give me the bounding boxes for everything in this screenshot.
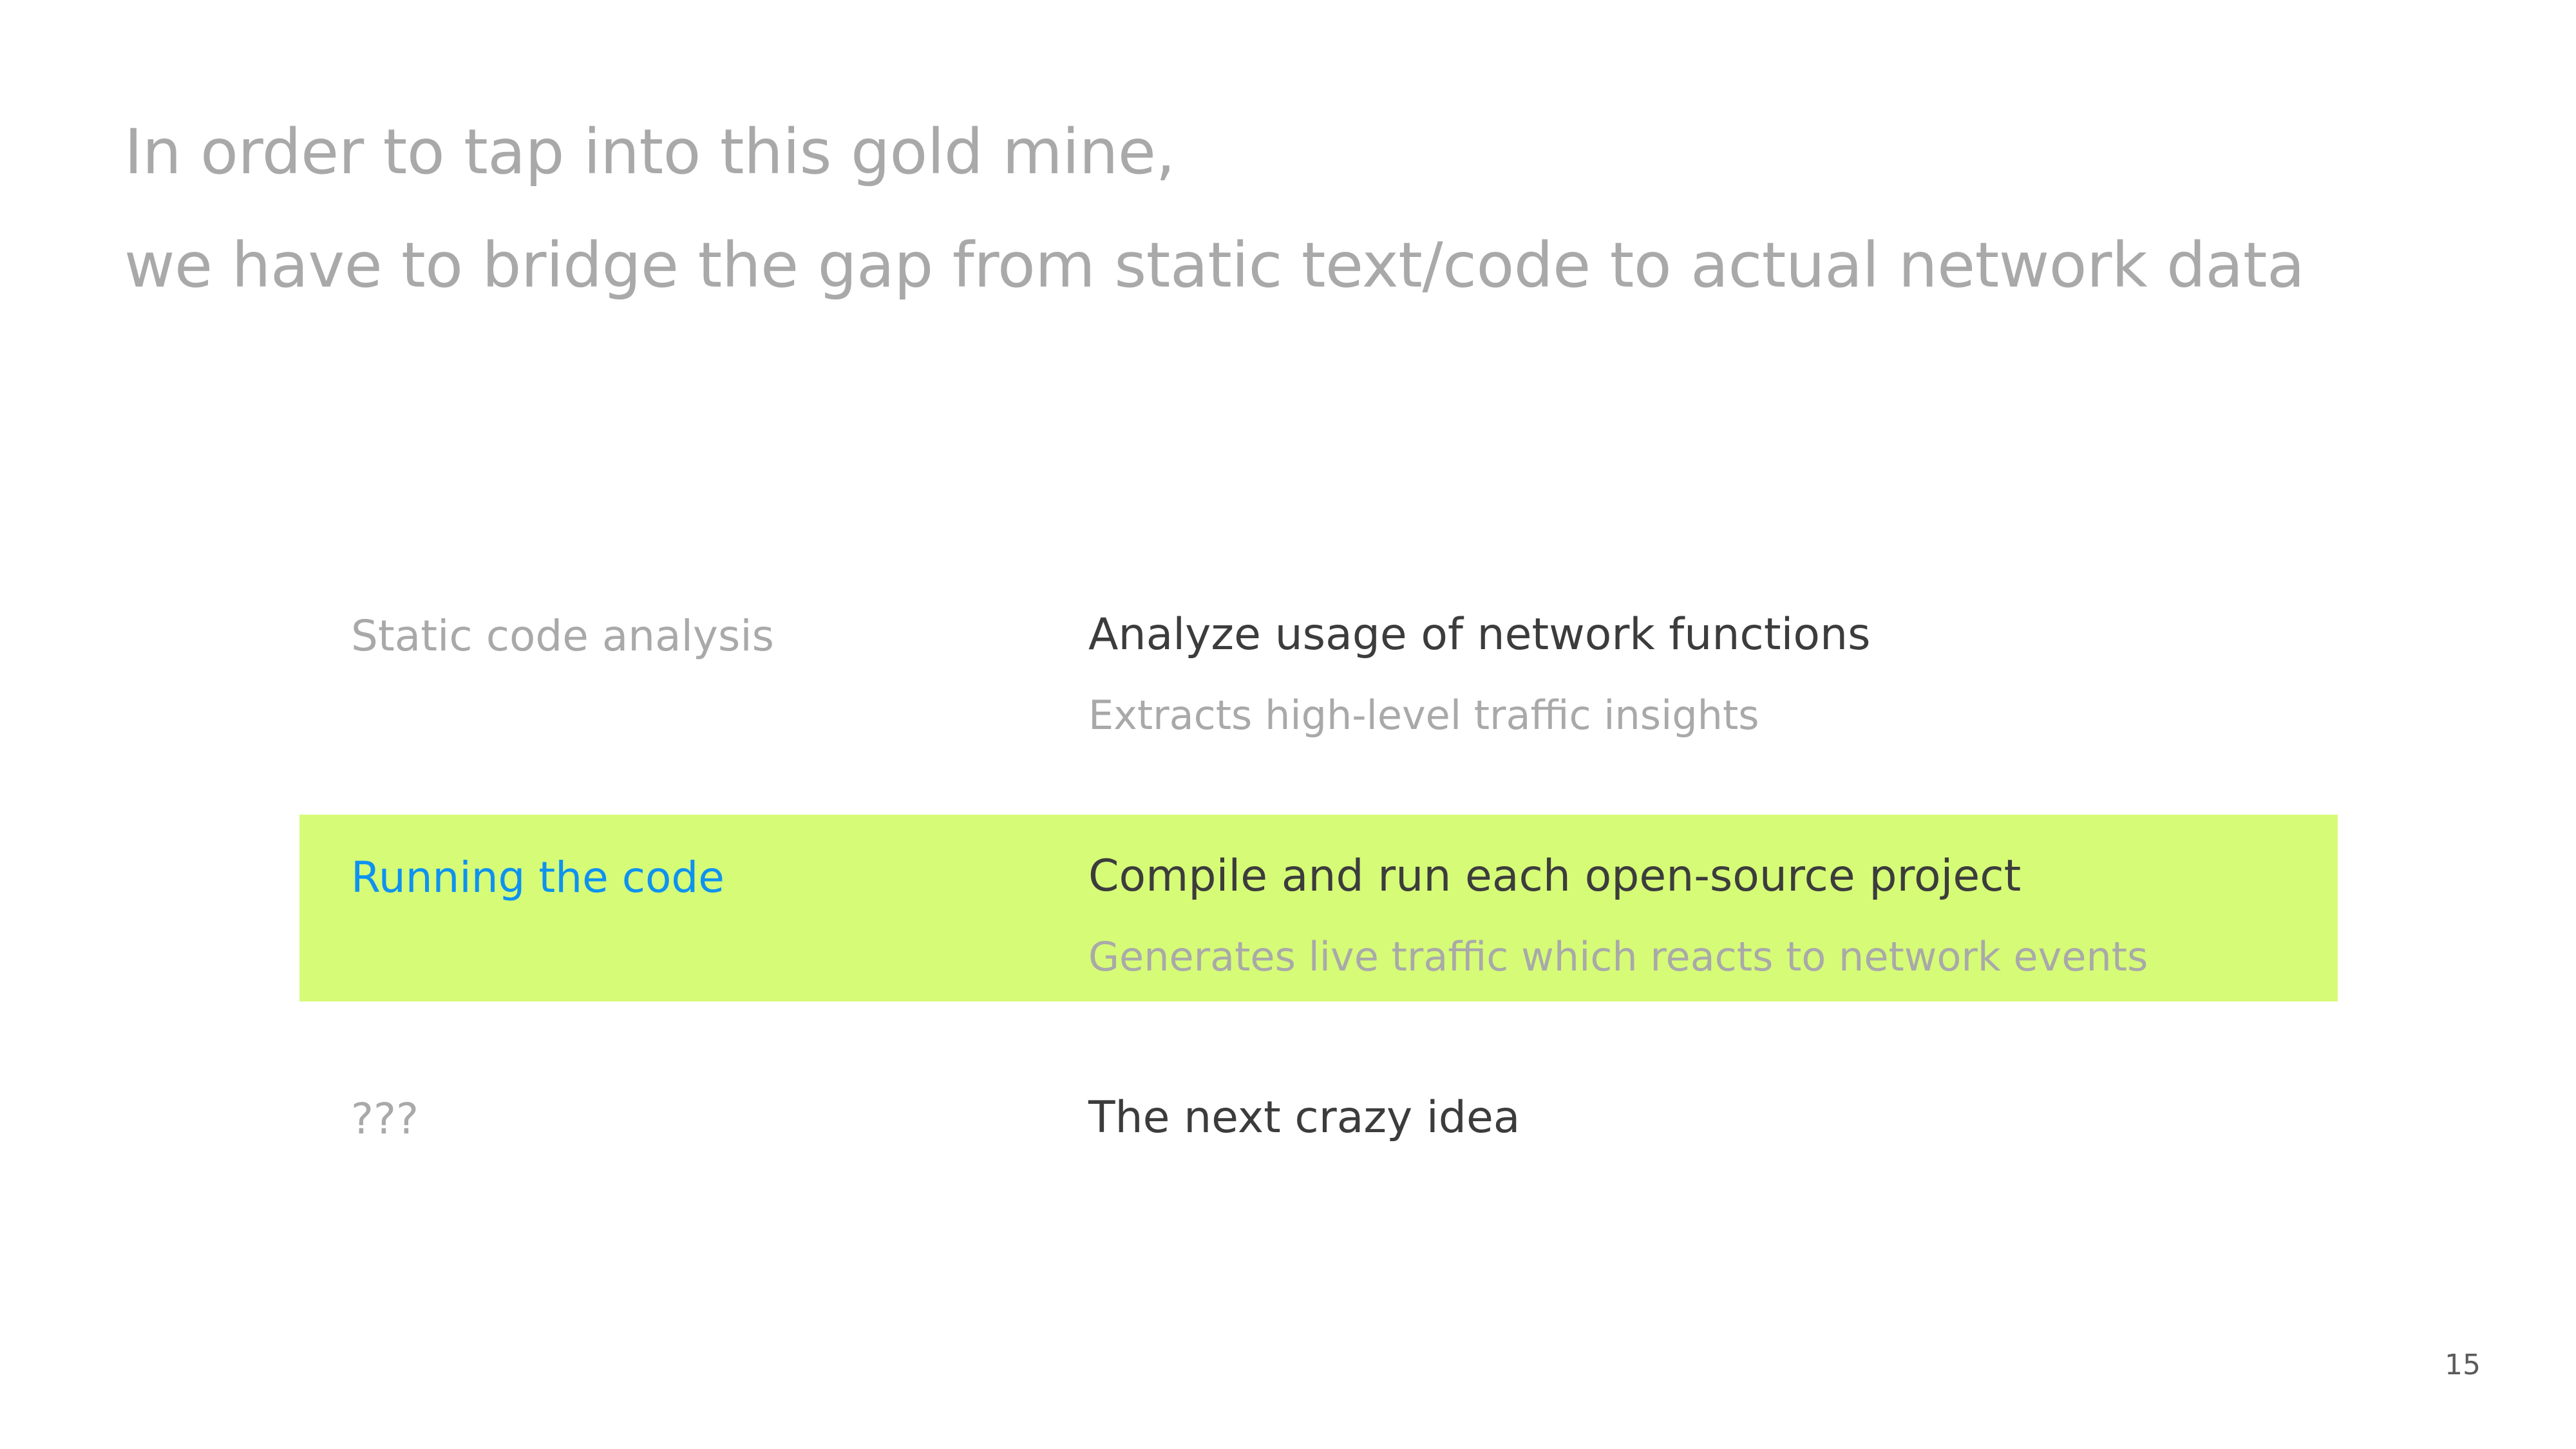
row-subtitle: Extracts high-level traffic insights [1088,696,1871,735]
row-body: Analyze usage of network functions Extra… [1088,613,1871,735]
approach-table: Static code analysis Analyze usage of ne… [0,0,2576,1449]
row-label-unknown: ??? [351,1098,419,1141]
row-body: Compile and run each open-source project… [1088,855,2148,977]
row-subtitle: Generates live traffic which reacts to n… [1088,937,2148,977]
row-title: Analyze usage of network functions [1088,613,1871,657]
row-label-static-code-analysis: Static code analysis [351,615,774,658]
page-number: 15 [2445,1351,2481,1379]
row-label-running-the-code: Running the code [351,857,724,899]
slide-canvas: In order to tap into this gold mine, we … [0,0,2576,1449]
row-title: The next crazy idea [1088,1096,1520,1140]
row-title: Compile and run each open-source project [1088,855,2148,898]
row-body: The next crazy idea [1088,1096,1520,1140]
